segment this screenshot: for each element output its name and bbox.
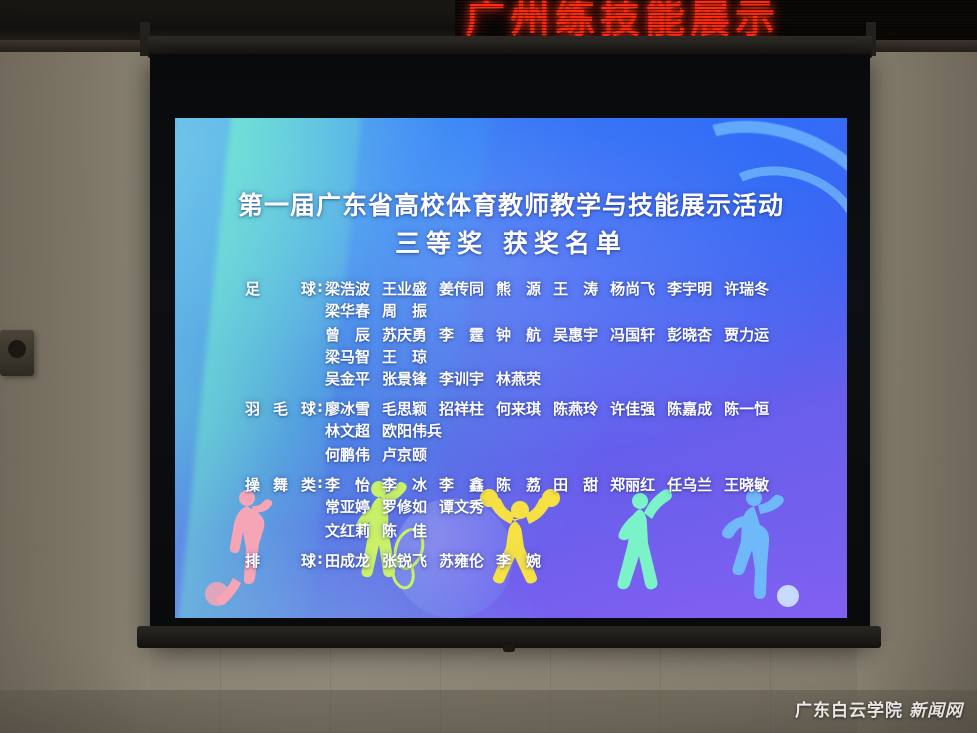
winner-name: 梁华春 [325,300,370,322]
winner-name: 何来琪 [496,398,541,420]
winner-name: 毛思颖 [382,398,427,420]
winner-row-continued: 吴金平张景锋李训宇林燕荣 [325,368,829,390]
winner-name: 梁浩波 [325,278,370,300]
winner-name: 王 涛 [553,278,598,300]
winner-row: 足球 : 梁浩波王业盛姜传同熊 源王 涛杨尚飞李宇明许瑞冬梁华春周 振 [245,278,829,322]
winner-name: 陈嘉成 [667,398,712,420]
winner-name: 何鹏伟 [325,444,370,466]
slide-title-line2: 三等奖 获奖名单 [175,224,847,260]
winner-name: 梁马智 [325,346,370,368]
winner-row: 羽毛球 : 廖冰雪毛思颖招祥柱何来琪陈燕玲许佳强陈嘉成陈一恒林文超欧阳伟兵 [245,398,829,442]
category-label: 羽毛球 [245,398,317,419]
slide-content: 第一届广东省高校体育教师教学与技能展示活动 三等奖 获奖名单 足球 : 梁浩波王… [175,118,847,618]
winner-name: 姜传同 [439,278,484,300]
winner-row: 排球 : 田成龙张锐飞苏雍伦李 婉 [245,550,829,572]
winner-name: 李 冰 [382,474,427,496]
winner-name: 田成龙 [325,550,370,572]
category-label: 排球 [245,550,317,571]
winner-name: 张锐飞 [382,550,427,572]
winner-group-aerobics-dance: 操舞类 : 李 怡李 冰李 鑫陈 荔田 甜郑丽红任乌兰王晓敏常亚婷罗修如谭文秀 … [245,474,829,542]
led-scanlines [455,0,977,40]
category-colon: : [317,398,325,416]
winner-name: 陈 荔 [496,474,541,496]
winner-name: 李训宇 [439,368,484,390]
winner-name: 杨尚飞 [610,278,655,300]
winner-name: 冯国轩 [610,324,655,346]
projected-slide: 第一届广东省高校体育教师教学与技能展示活动 三等奖 获奖名单 足球 : 梁浩波王… [175,118,847,618]
winner-name: 曾 辰 [325,324,370,346]
winner-name: 钟 航 [496,324,541,346]
slide-title-line1: 第一届广东省高校体育教师教学与技能展示活动 [175,186,847,222]
winner-name: 王 琼 [382,346,427,368]
winner-name: 任乌兰 [667,474,712,496]
winner-group-badminton: 羽毛球 : 廖冰雪毛思颖招祥柱何来琪陈燕玲许佳强陈嘉成陈一恒林文超欧阳伟兵 何鹏… [245,398,829,466]
photo-scene: 广州练技能展示 [0,0,977,733]
projector-screen-bottom-bar [137,626,881,648]
winner-name: 熊 源 [496,278,541,300]
wall-right-panel [857,0,977,733]
winner-name: 李宇明 [667,278,712,300]
watermark-org: 广东白云学院 [795,701,903,721]
watermark: 广东白云学院新闻网 [795,696,963,721]
winner-name: 彭晓杏 [667,324,712,346]
winner-name: 林文超 [325,420,370,442]
winner-name: 周 振 [382,300,427,322]
winner-name: 陈一恒 [724,398,769,420]
winner-row: 操舞类 : 李 怡李 冰李 鑫陈 荔田 甜郑丽红任乌兰王晓敏常亚婷罗修如谭文秀 [245,474,829,518]
winner-row-continued: 文红莉陈 佳 [325,520,829,542]
winner-name: 李 婉 [496,550,541,572]
winner-name: 张景锋 [382,368,427,390]
winner-name: 许佳强 [610,398,655,420]
winner-name: 王晓敏 [724,474,769,496]
winner-names: 廖冰雪毛思颖招祥柱何来琪陈燕玲许佳强陈嘉成陈一恒林文超欧阳伟兵 [325,398,829,442]
winner-row-continued: 曾 辰苏庆勇李 霆钟 航吴惠宇冯国轩彭晓杏贾力运梁马智王 琼 [325,324,829,368]
winner-name: 谭文秀 [439,496,484,518]
watermark-site: 新闻网 [909,701,963,721]
winner-name: 招祥柱 [439,398,484,420]
winner-names: 田成龙张锐飞苏雍伦李 婉 [325,550,829,572]
winner-names: 梁浩波王业盛姜传同熊 源王 涛杨尚飞李宇明许瑞冬梁华春周 振 [325,278,829,322]
winner-name: 吴金平 [325,368,370,390]
category-label: 操舞类 [245,474,317,495]
winner-list: 足球 : 梁浩波王业盛姜传同熊 源王 涛杨尚飞李宇明许瑞冬梁华春周 振 曾 辰苏… [245,278,829,580]
winner-name: 郑丽红 [610,474,655,496]
winner-name: 欧阳伟兵 [382,420,442,442]
winner-name: 贾力运 [724,324,769,346]
winner-name: 王业盛 [382,278,427,300]
led-banner: 广州练技能展示 [455,0,977,40]
winner-name: 李 霆 [439,324,484,346]
winner-name: 田 甜 [553,474,598,496]
winner-name: 李 鑫 [439,474,484,496]
winner-name: 廖冰雪 [325,398,370,420]
winner-name: 林燕荣 [496,368,541,390]
winner-group-volleyball: 排球 : 田成龙张锐飞苏雍伦李 婉 [245,550,829,572]
winner-name: 文红莉 [325,520,370,542]
winner-name: 罗修如 [382,496,427,518]
winner-name: 陈燕玲 [553,398,598,420]
wall-speaker [0,330,34,376]
winner-name: 卢京颐 [382,444,427,466]
winner-name: 李 怡 [325,474,370,496]
winner-name: 苏庆勇 [382,324,427,346]
winner-name: 吴惠宇 [553,324,598,346]
category-colon: : [317,550,325,568]
winner-names: 李 怡李 冰李 鑫陈 荔田 甜郑丽红任乌兰王晓敏常亚婷罗修如谭文秀 [325,474,829,518]
winner-name: 陈 佳 [382,520,427,542]
category-colon: : [317,278,325,296]
category-colon: : [317,474,325,492]
winner-name: 苏雍伦 [439,550,484,572]
winner-group-football: 足球 : 梁浩波王业盛姜传同熊 源王 涛杨尚飞李宇明许瑞冬梁华春周 振 曾 辰苏… [245,278,829,390]
winner-row-continued: 何鹏伟卢京颐 [325,444,829,466]
winner-name: 许瑞冬 [724,278,769,300]
category-label: 足球 [245,278,317,299]
winner-name: 常亚婷 [325,496,370,518]
